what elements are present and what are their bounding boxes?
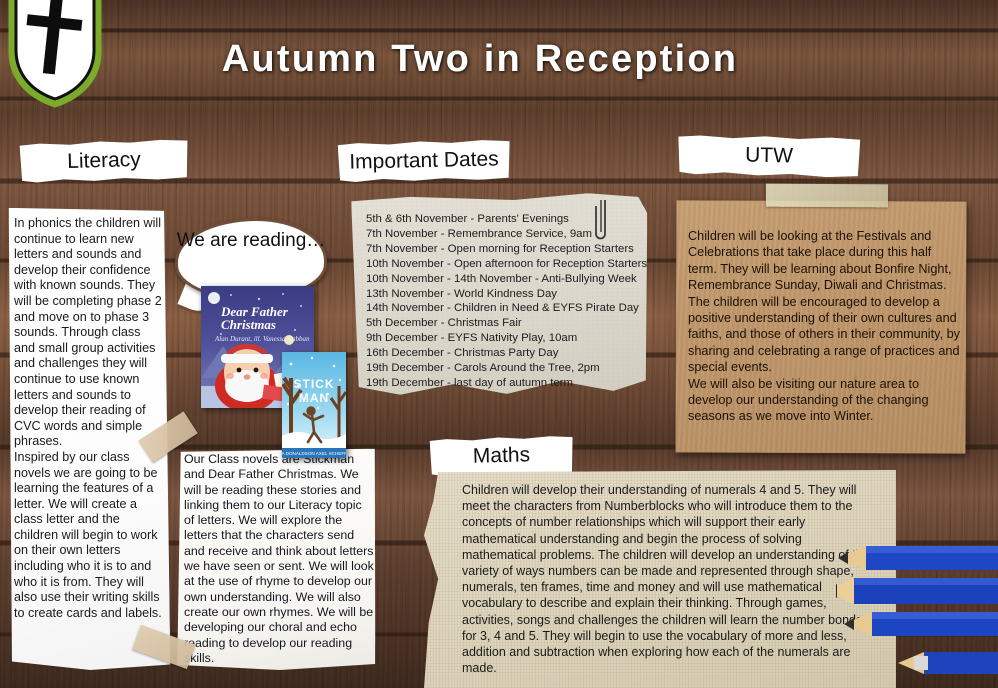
paperclip-icon	[593, 198, 611, 246]
section-label-utw: UTW	[678, 134, 861, 177]
date-list-item: 5th December - Christmas Fair	[366, 316, 650, 331]
utw-body-text: Children will be looking at the Festival…	[688, 228, 962, 438]
pencils-decoration	[836, 540, 998, 688]
date-list-item: 10th November - 14th November - Anti-Bul…	[366, 272, 650, 287]
date-list-item: 10th November - Open afternoon for Recep…	[366, 257, 650, 272]
date-list-item: 19th December - last day of autumn term	[366, 376, 650, 391]
page-title: Autumn Two in Reception	[130, 38, 830, 81]
svg-text:MAN: MAN	[299, 391, 329, 405]
label-text: UTW	[745, 144, 793, 169]
class-novels-body-text: Our Class novels are Stickman and Dear F…	[184, 452, 374, 668]
speech-bubble-text: We are reading…	[175, 228, 327, 254]
svg-text:Alan Durant, ill. Vanessa Cabb: Alan Durant, ill. Vanessa Cabban	[214, 335, 310, 343]
section-label-maths: Maths	[430, 435, 574, 476]
date-list-item: 9th December - EYFS Nativity Play, 10am	[366, 331, 650, 346]
date-list-item: 16th December - Christmas Party Day	[366, 346, 650, 361]
label-text: Important Dates	[349, 147, 499, 174]
poster-background: Autumn Two in Reception Literacy Importa…	[0, 0, 998, 688]
label-text: Literacy	[67, 148, 141, 174]
date-list-item: 14th November - Children in Need & EYFS …	[366, 301, 650, 316]
book-cover-stick-man: STICK MAN JULIA DONALDSON AXEL SCHEFFLER	[282, 352, 346, 458]
section-label-literacy: Literacy	[19, 139, 188, 184]
svg-text:STICK: STICK	[294, 377, 335, 391]
svg-text:JULIA DONALDSON AXEL SCHEFFLE: JULIA DONALDSON AXEL SCHEFFLER	[282, 451, 346, 456]
date-list-item: 13th November - World Kindness Day	[366, 287, 650, 302]
section-label-important-dates: Important Dates	[338, 139, 511, 183]
svg-text:Christmas: Christmas	[221, 317, 276, 332]
maths-body-text: Children will develop their understandin…	[462, 482, 870, 676]
tape-piece	[766, 184, 888, 208]
label-text: Maths	[473, 443, 531, 468]
date-list-item: 19th December - Carols Around the Tree, …	[366, 361, 650, 376]
school-crest-icon	[6, 0, 104, 108]
